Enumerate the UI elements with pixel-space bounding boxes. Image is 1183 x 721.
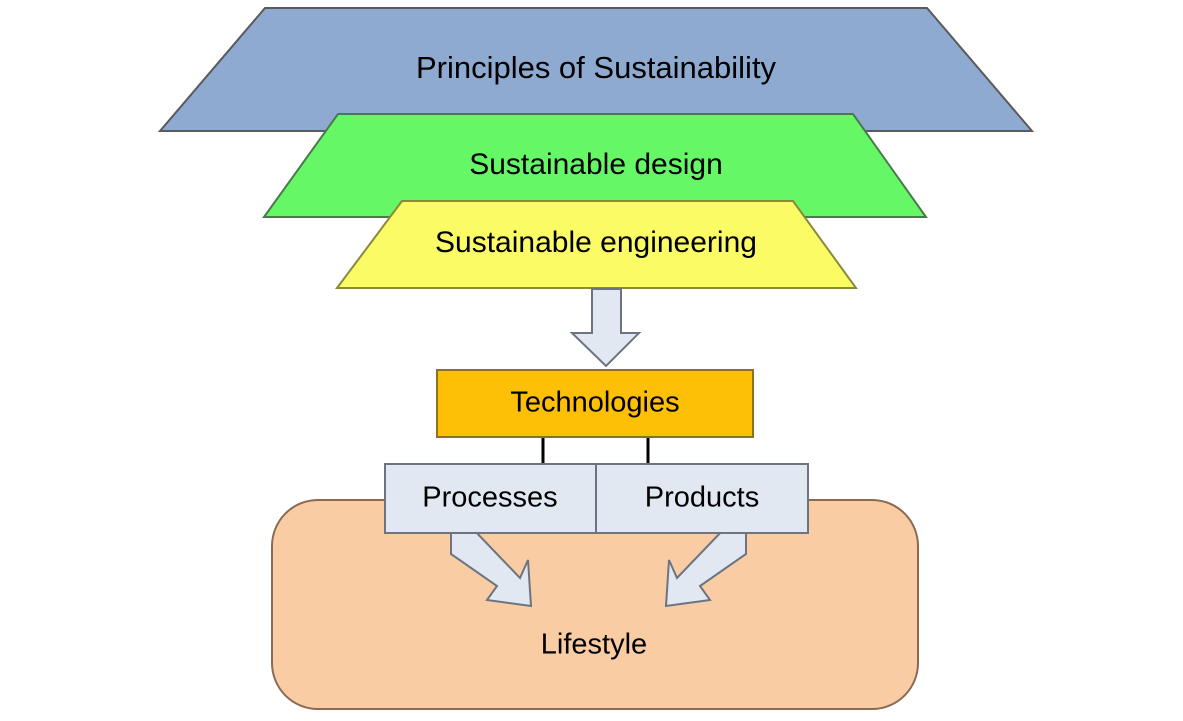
layer-sustainable-engineering[interactable]: Sustainable engineering [337, 201, 856, 288]
sustainable-design-label: Sustainable design [469, 148, 723, 181]
node-processes[interactable]: Processes [385, 464, 596, 533]
diagram-canvas: Principles of Sustainability Sustainable… [0, 0, 1183, 721]
layer-principles-of-sustainability[interactable]: Principles of Sustainability [160, 8, 1032, 131]
sustainable-engineering-label: Sustainable engineering [435, 226, 757, 259]
products-label: Products [645, 482, 759, 514]
technologies-label: Technologies [510, 387, 679, 419]
node-products[interactable]: Products [596, 464, 808, 533]
node-technologies[interactable]: Technologies [437, 370, 753, 437]
down-arrow-icon [572, 289, 639, 366]
lifestyle-label: Lifestyle [541, 629, 647, 661]
processes-label: Processes [422, 482, 557, 514]
sustainability-diagram: Principles of Sustainability Sustainable… [0, 0, 1183, 721]
connector-engineering-to-technologies [572, 289, 639, 366]
principles-label: Principles of Sustainability [416, 50, 777, 85]
